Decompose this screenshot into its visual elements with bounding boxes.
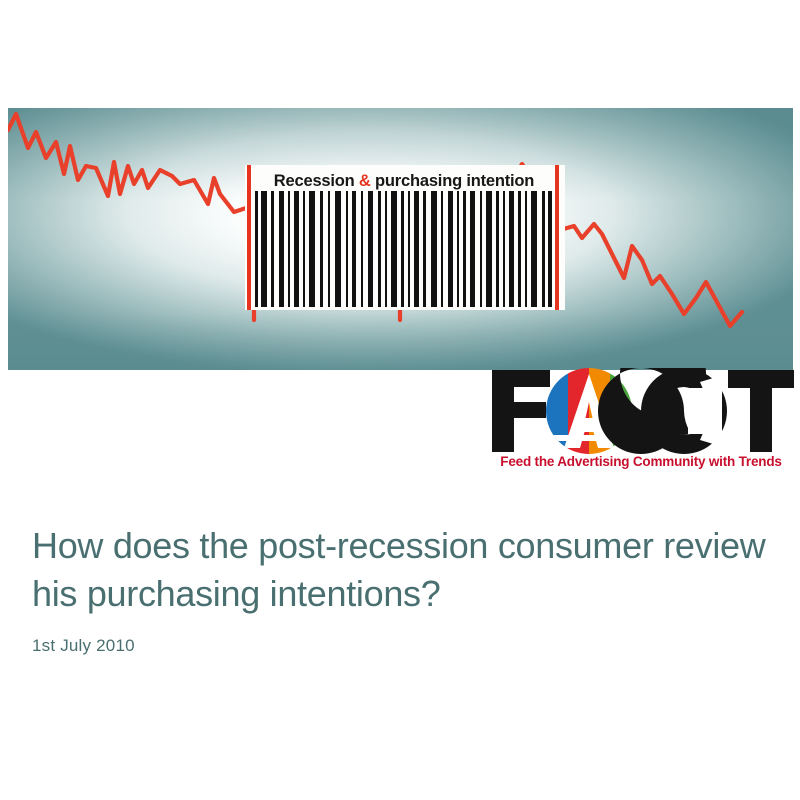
- presentation-slide: Recession & purchasing intention: [0, 0, 800, 800]
- barcode-title-ampersand: &: [359, 172, 371, 190]
- barcode-bars-icon: [245, 191, 565, 307]
- hero-banner: Recession & purchasing intention: [8, 108, 793, 370]
- fact-letter-f: [492, 370, 550, 452]
- trend-line-left: [8, 114, 254, 320]
- barcode-guard-right: [555, 165, 559, 310]
- slide-date: 1st July 2010: [32, 636, 772, 656]
- barcode-guard-left: [247, 165, 251, 310]
- fact-logo: Feed the Advertising Community with Tren…: [488, 368, 794, 480]
- title-block: How does the post-recession consumer rev…: [32, 522, 772, 656]
- fact-letter-t: [728, 370, 794, 452]
- fact-wordmark-icon: [488, 368, 794, 454]
- barcode-title-prefix: Recession: [274, 172, 359, 190]
- barcode-graphic: Recession & purchasing intention: [245, 165, 565, 310]
- page-title: How does the post-recession consumer rev…: [32, 522, 772, 618]
- fact-letter-c: [598, 368, 727, 454]
- fact-tagline: Feed the Advertising Community with Tren…: [488, 454, 794, 469]
- barcode-title-suffix: purchasing intention: [371, 172, 535, 190]
